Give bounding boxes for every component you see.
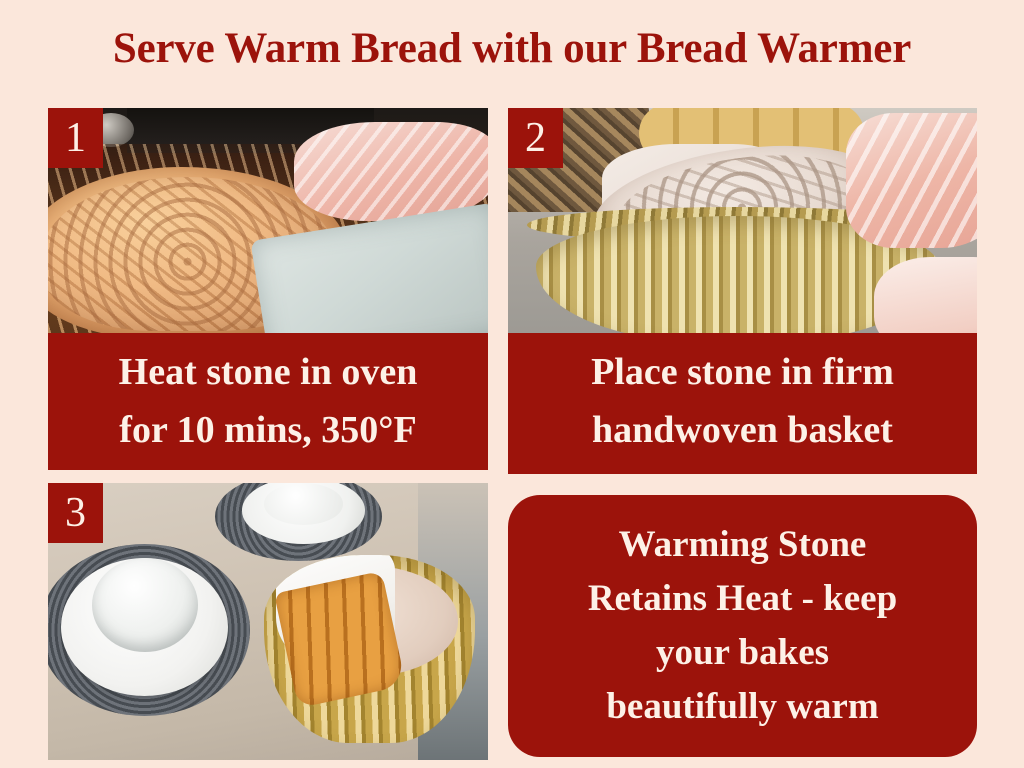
bread-warmer-basket (264, 555, 475, 743)
step-badge-3: 3 (48, 483, 103, 543)
stone-in-woven-basket-photo: 2 (508, 108, 977, 333)
pink-cloth-foreground (874, 257, 977, 334)
step-caption-2-line-1: Place stone in firm (514, 343, 971, 401)
callout-line-1: Warming Stone (588, 518, 897, 572)
sliced-bread (274, 571, 406, 708)
pink-patterned-cloth (294, 122, 488, 221)
step-badge-1: 1 (48, 108, 103, 168)
step-caption-2-line-2: handwoven basket (514, 401, 971, 459)
step-badge-2: 2 (508, 108, 563, 168)
step-caption-2: Place stone in firm handwoven basket (508, 333, 977, 474)
benefit-callout-panel: Warming Stone Retains Heat - keep your b… (508, 495, 977, 757)
step-panel-3: 3 (48, 483, 488, 760)
carved-stone-in-oven-photo: 1 (48, 108, 488, 333)
callout-line-2: Retains Heat - keep (588, 572, 897, 626)
step-panel-2: 2 Place stone in firm handwoven basket (508, 108, 977, 474)
benefit-callout-box: Warming Stone Retains Heat - keep your b… (508, 495, 977, 757)
callout-line-3: your bakes (588, 626, 897, 680)
step-panel-1: 1 Heat stone in oven for 10 mins, 350°F (48, 108, 488, 470)
page-title: Serve Warm Bread with our Bread Warmer (0, 24, 1024, 74)
step-caption-1-line-1: Heat stone in oven (54, 343, 482, 401)
pink-patterned-cloth (846, 113, 977, 248)
step-caption-1: Heat stone in oven for 10 mins, 350°F (48, 333, 488, 470)
white-bowl-back (264, 483, 343, 525)
served-bread-on-table-photo: 3 (48, 483, 488, 760)
step-caption-1-line-2: for 10 mins, 350°F (54, 401, 482, 459)
white-bowl-front (92, 558, 198, 652)
callout-line-4: beautifully warm (588, 680, 897, 734)
